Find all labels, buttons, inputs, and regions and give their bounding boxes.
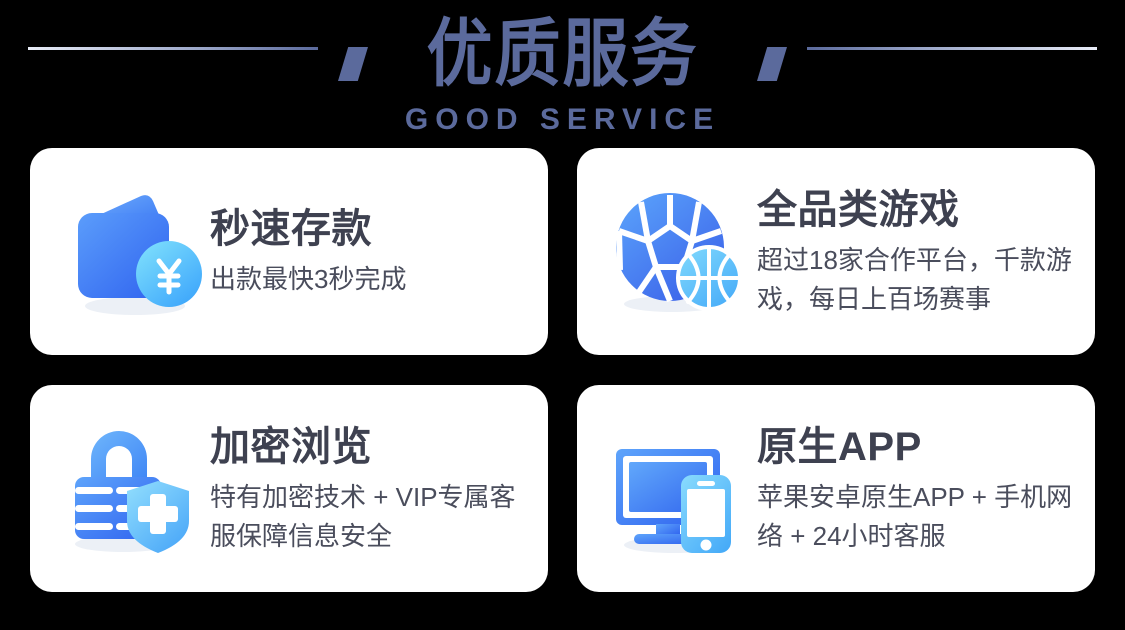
feature-card-grid: 秒速存款 出款最快3秒完成 <box>30 148 1095 592</box>
feature-card-deposit[interactable]: 秒速存款 出款最快3秒完成 <box>30 148 548 355</box>
wallet-yen-icon <box>56 177 206 327</box>
monitor-phone-icon <box>603 414 753 564</box>
page-subtitle: GOOD SERVICE <box>0 104 1125 136</box>
card-subtitle: 出款最快3秒完成 <box>210 260 526 299</box>
page-title: 优质服务 <box>0 6 1125 100</box>
promo-banner: 优质服务 GOOD SERVICE <box>0 0 1125 630</box>
feature-card-encryption[interactable]: 加密浏览 特有加密技术 + VIP专属客服保障信息安全 <box>30 385 548 592</box>
lock-shield-icon <box>56 414 206 564</box>
feature-card-games[interactable]: 全品类游戏 超过18家合作平台，千款游戏，每日上百场赛事 <box>577 148 1095 355</box>
header: 优质服务 GOOD SERVICE <box>0 0 1125 145</box>
feature-card-text: 加密浏览 特有加密技术 + VIP专属客服保障信息安全 <box>206 422 526 556</box>
card-title: 秒速存款 <box>210 204 526 254</box>
feature-card-text: 秒速存款 出款最快3秒完成 <box>206 204 526 299</box>
header-text-group: 优质服务 GOOD SERVICE <box>0 6 1125 136</box>
card-title: 全品类游戏 <box>757 185 1073 235</box>
card-title: 加密浏览 <box>210 422 526 472</box>
soccer-basketball-icon <box>603 177 753 327</box>
card-title: 原生APP <box>757 422 1073 472</box>
card-subtitle: 特有加密技术 + VIP专属客服保障信息安全 <box>210 478 526 556</box>
feature-card-text: 原生APP 苹果安卓原生APP + 手机网络 + 24小时客服 <box>753 422 1073 556</box>
feature-card-text: 全品类游戏 超过18家合作平台，千款游戏，每日上百场赛事 <box>753 185 1073 319</box>
feature-card-native-app[interactable]: 原生APP 苹果安卓原生APP + 手机网络 + 24小时客服 <box>577 385 1095 592</box>
card-subtitle: 超过18家合作平台，千款游戏，每日上百场赛事 <box>757 241 1073 319</box>
card-subtitle: 苹果安卓原生APP + 手机网络 + 24小时客服 <box>757 478 1073 556</box>
